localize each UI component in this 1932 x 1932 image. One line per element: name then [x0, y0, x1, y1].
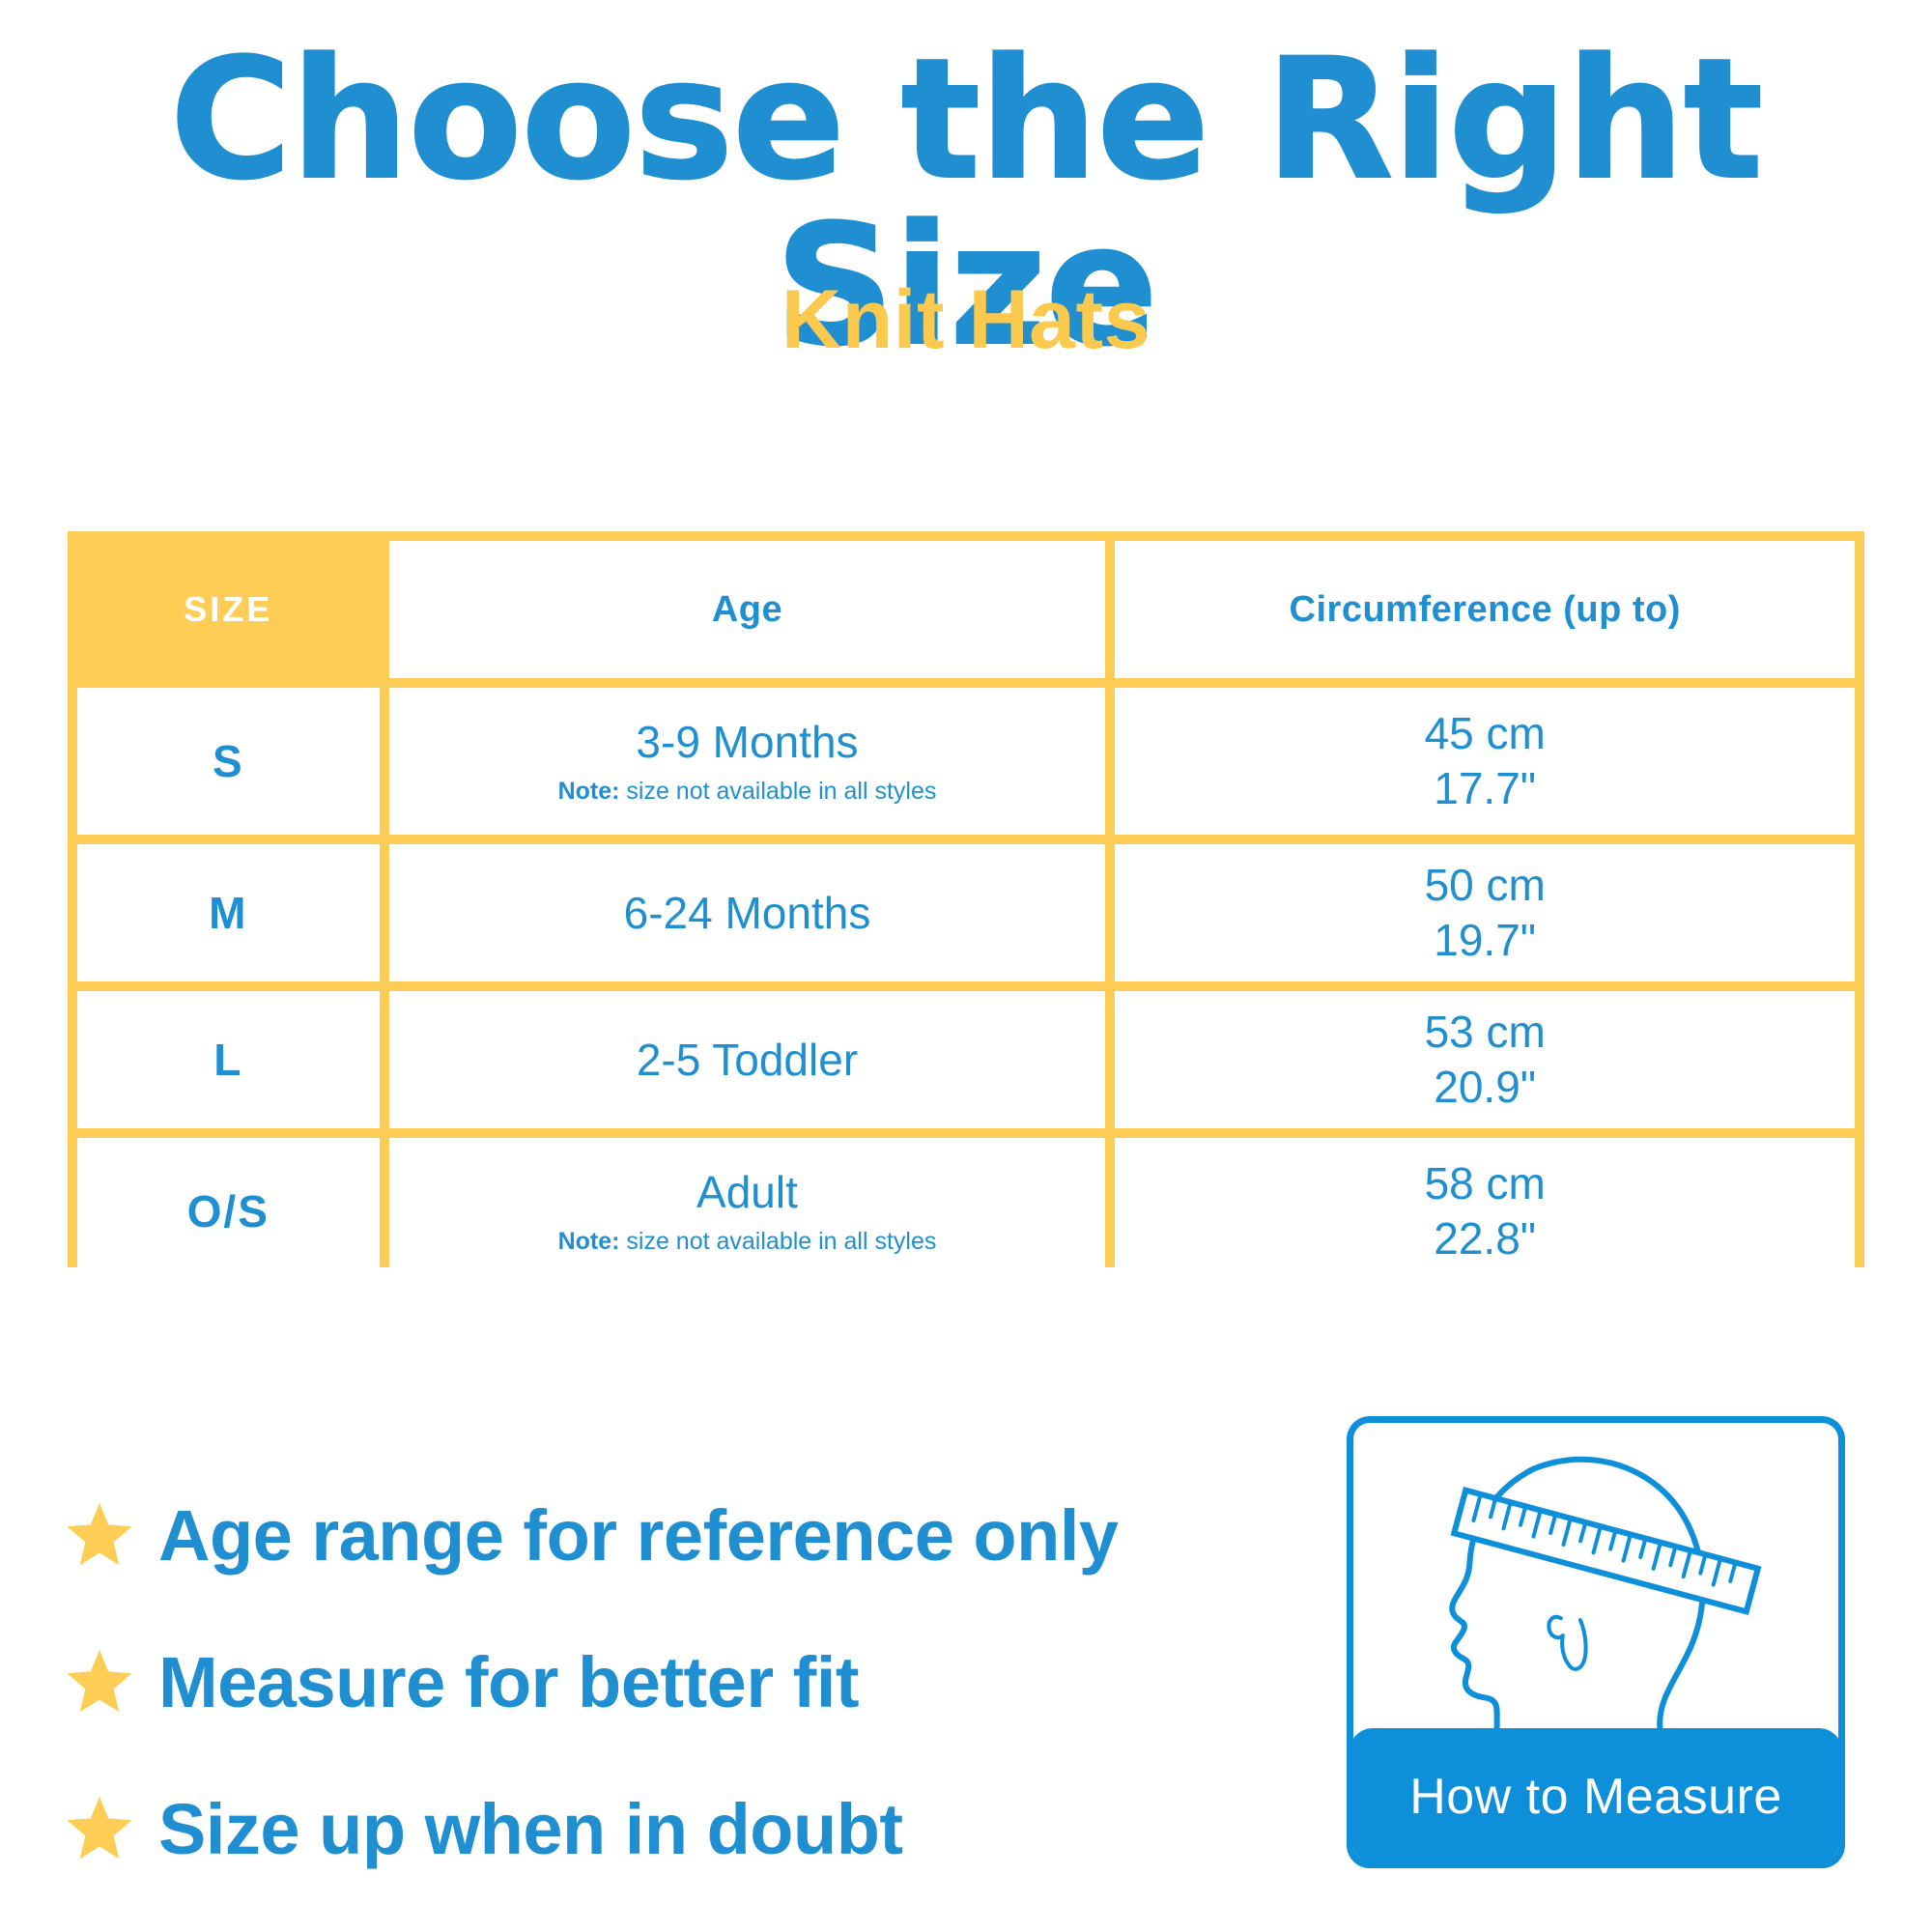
cell-size: M — [77, 844, 380, 981]
note-label: Note: — [558, 778, 620, 805]
page-subtitle: Knit Hats — [0, 278, 1932, 361]
list-item: Age range for reference only — [66, 1470, 1302, 1602]
cell-age: 6-24 Months — [389, 844, 1106, 981]
cell-age: Adult Note: size not available in all st… — [389, 1138, 1106, 1285]
circumference-inches: 20.9" — [1434, 1060, 1536, 1116]
cell-size: L — [77, 991, 380, 1128]
cell-circumference: 45 cm 17.7" — [1115, 688, 1855, 835]
age-value: 2-5 Toddler — [637, 1035, 858, 1086]
circumference-inches: 17.7" — [1434, 761, 1536, 817]
star-icon — [66, 1647, 133, 1715]
how-to-measure-card[interactable]: How to Measure — [1347, 1416, 1845, 1868]
size-value: L — [213, 1034, 242, 1086]
circumference-cm: 53 cm — [1425, 1005, 1546, 1061]
age-note: Note: size not available in all styles — [558, 1228, 937, 1256]
size-value: M — [209, 887, 247, 939]
age-value: Adult — [696, 1167, 798, 1218]
circumference-cm: 45 cm — [1425, 706, 1546, 762]
cell-age: 3-9 Months Note: size not available in a… — [389, 688, 1106, 835]
size-chart-page: Choose the Right Size Knit Hats SIZE Age… — [0, 0, 1932, 1932]
note-text: size not available in all styles — [619, 778, 936, 805]
circumference-inches: 22.8" — [1434, 1211, 1536, 1267]
head-with-measuring-tape-icon — [1353, 1423, 1838, 1759]
note-label: Note: — [558, 1228, 620, 1255]
cell-size: O/S — [77, 1138, 380, 1285]
list-item: Size up when in doubt — [66, 1764, 1302, 1895]
tip-text: Age range for reference only — [158, 1500, 1119, 1572]
tip-text: Measure for better fit — [158, 1647, 859, 1719]
table-row: L 2-5 Toddler 53 cm 20.9" — [77, 991, 1855, 1128]
tip-text: Size up when in doubt — [158, 1794, 903, 1865]
cell-age: 2-5 Toddler — [389, 991, 1106, 1128]
cell-size: S — [77, 688, 380, 835]
size-table: SIZE Age Circumference (up to) S 3-9 Mon… — [68, 531, 1864, 1267]
circumference-cm: 58 cm — [1425, 1156, 1546, 1212]
column-header-size: SIZE — [77, 541, 380, 678]
list-item: Measure for better fit — [66, 1617, 1302, 1748]
size-value: O/S — [187, 1185, 270, 1237]
circumference-inches: 19.7" — [1434, 913, 1536, 969]
star-icon — [66, 1500, 133, 1568]
age-note: Note: size not available in all styles — [558, 778, 937, 806]
column-header-circumference: Circumference (up to) — [1115, 541, 1855, 678]
table-row: O/S Adult Note: size not available in al… — [77, 1138, 1855, 1285]
column-header-age: Age — [389, 541, 1106, 678]
cell-circumference: 58 cm 22.8" — [1115, 1138, 1855, 1285]
cell-circumference: 53 cm 20.9" — [1115, 991, 1855, 1128]
table-row: M 6-24 Months 50 cm 19.7" — [77, 844, 1855, 981]
note-text: size not available in all styles — [619, 1228, 936, 1255]
how-to-measure-label: How to Measure — [1350, 1728, 1842, 1865]
table-row: S 3-9 Months Note: size not available in… — [77, 688, 1855, 835]
table-header-row: SIZE Age Circumference (up to) — [77, 541, 1855, 678]
star-icon — [66, 1794, 133, 1861]
cell-circumference: 50 cm 19.7" — [1115, 844, 1855, 981]
size-value: S — [213, 735, 244, 787]
age-value: 3-9 Months — [636, 717, 858, 768]
tips-list: Age range for reference only Measure for… — [66, 1470, 1302, 1895]
age-value: 6-24 Months — [624, 888, 871, 939]
circumference-cm: 50 cm — [1425, 858, 1546, 914]
